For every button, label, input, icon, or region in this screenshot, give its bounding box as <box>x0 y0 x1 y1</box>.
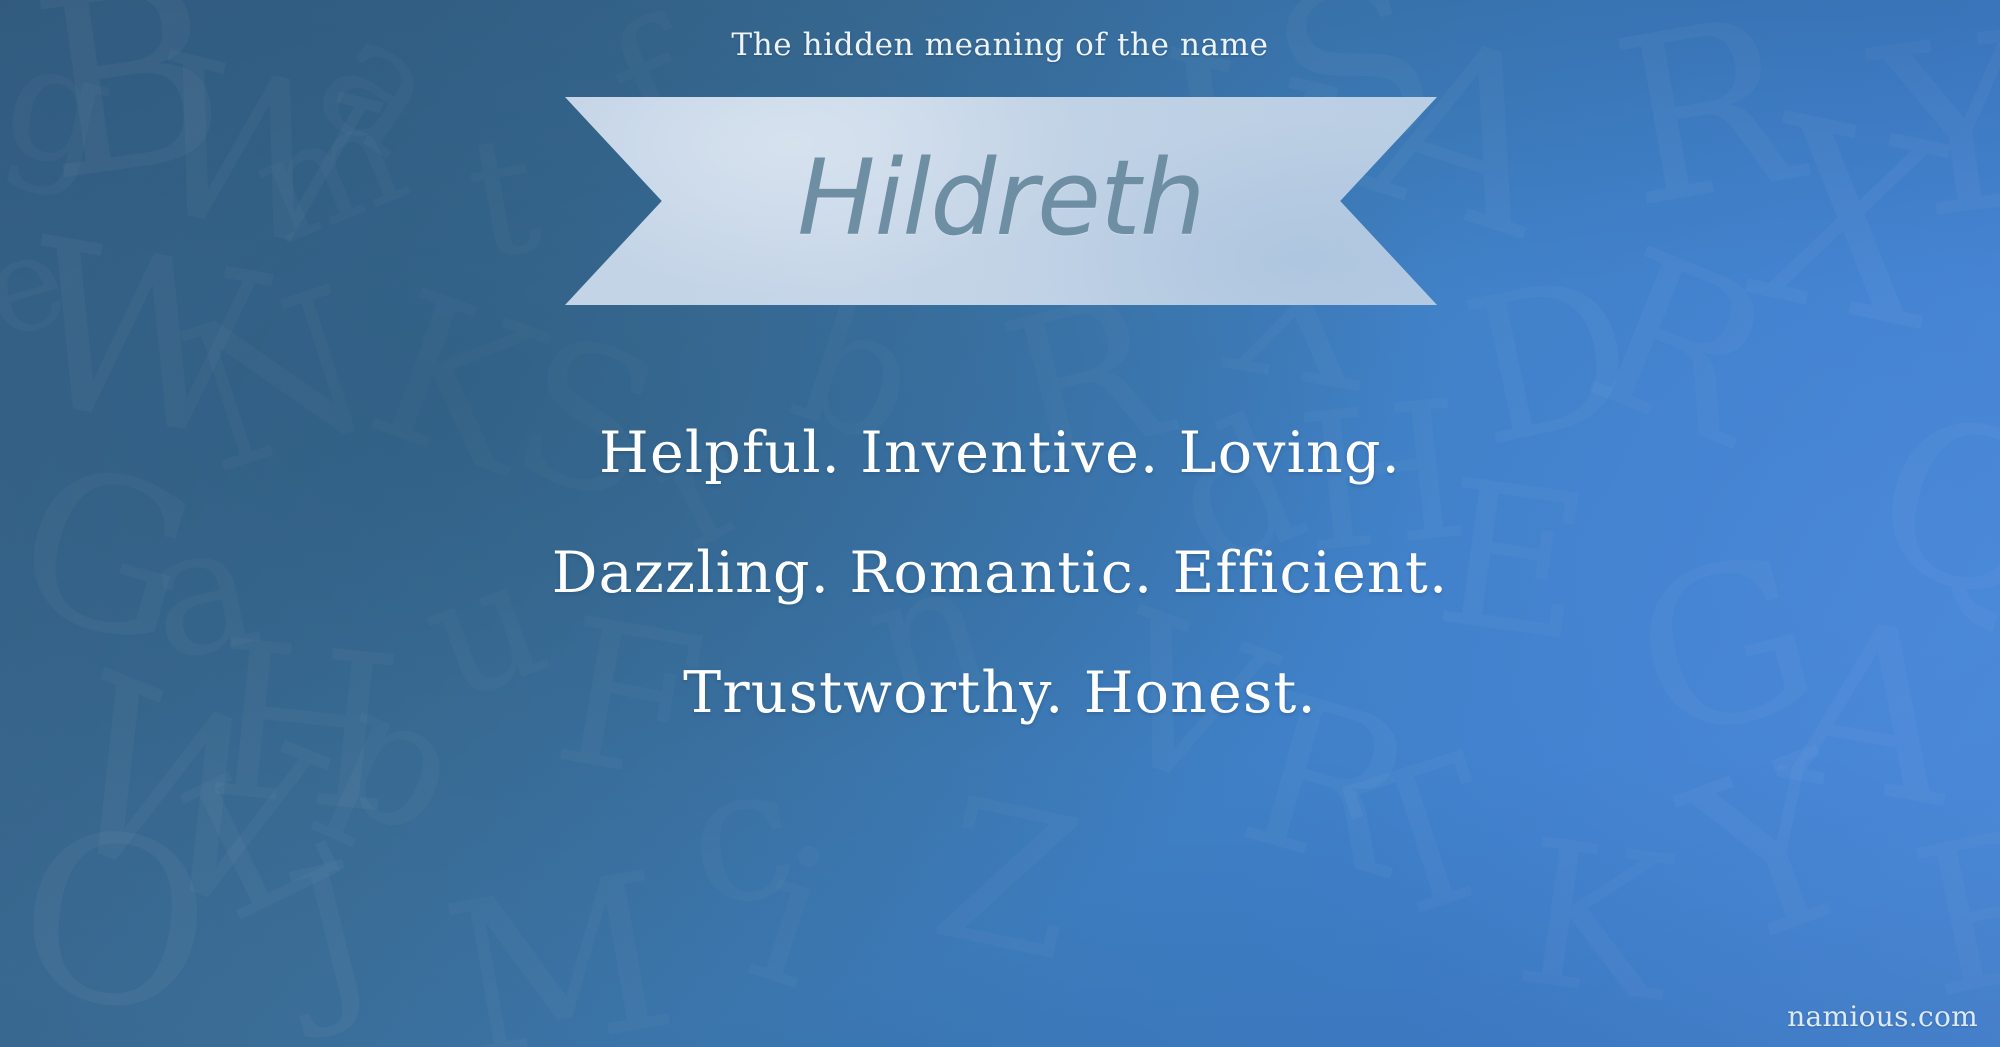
trait-line: Helpful. Inventive. Loving. <box>0 425 2000 482</box>
trait-line: Dazzling. Romantic. Efficient. <box>0 545 2000 602</box>
name-text: Hildreth <box>565 97 1437 305</box>
trait-line: Trustworthy. Honest. <box>0 665 2000 722</box>
name-ribbon-banner: Hildreth <box>565 97 1437 305</box>
traits-list: Helpful. Inventive. Loving.Dazzling. Rom… <box>0 425 2000 722</box>
name-meaning-card: BWmageWNGaWLOHJKtSuFrpcbnZRVdXHRTEDVSARX… <box>0 0 2000 1047</box>
page-title: The hidden meaning of the name <box>0 27 2000 63</box>
site-watermark: namious.com <box>1787 1000 1978 1033</box>
